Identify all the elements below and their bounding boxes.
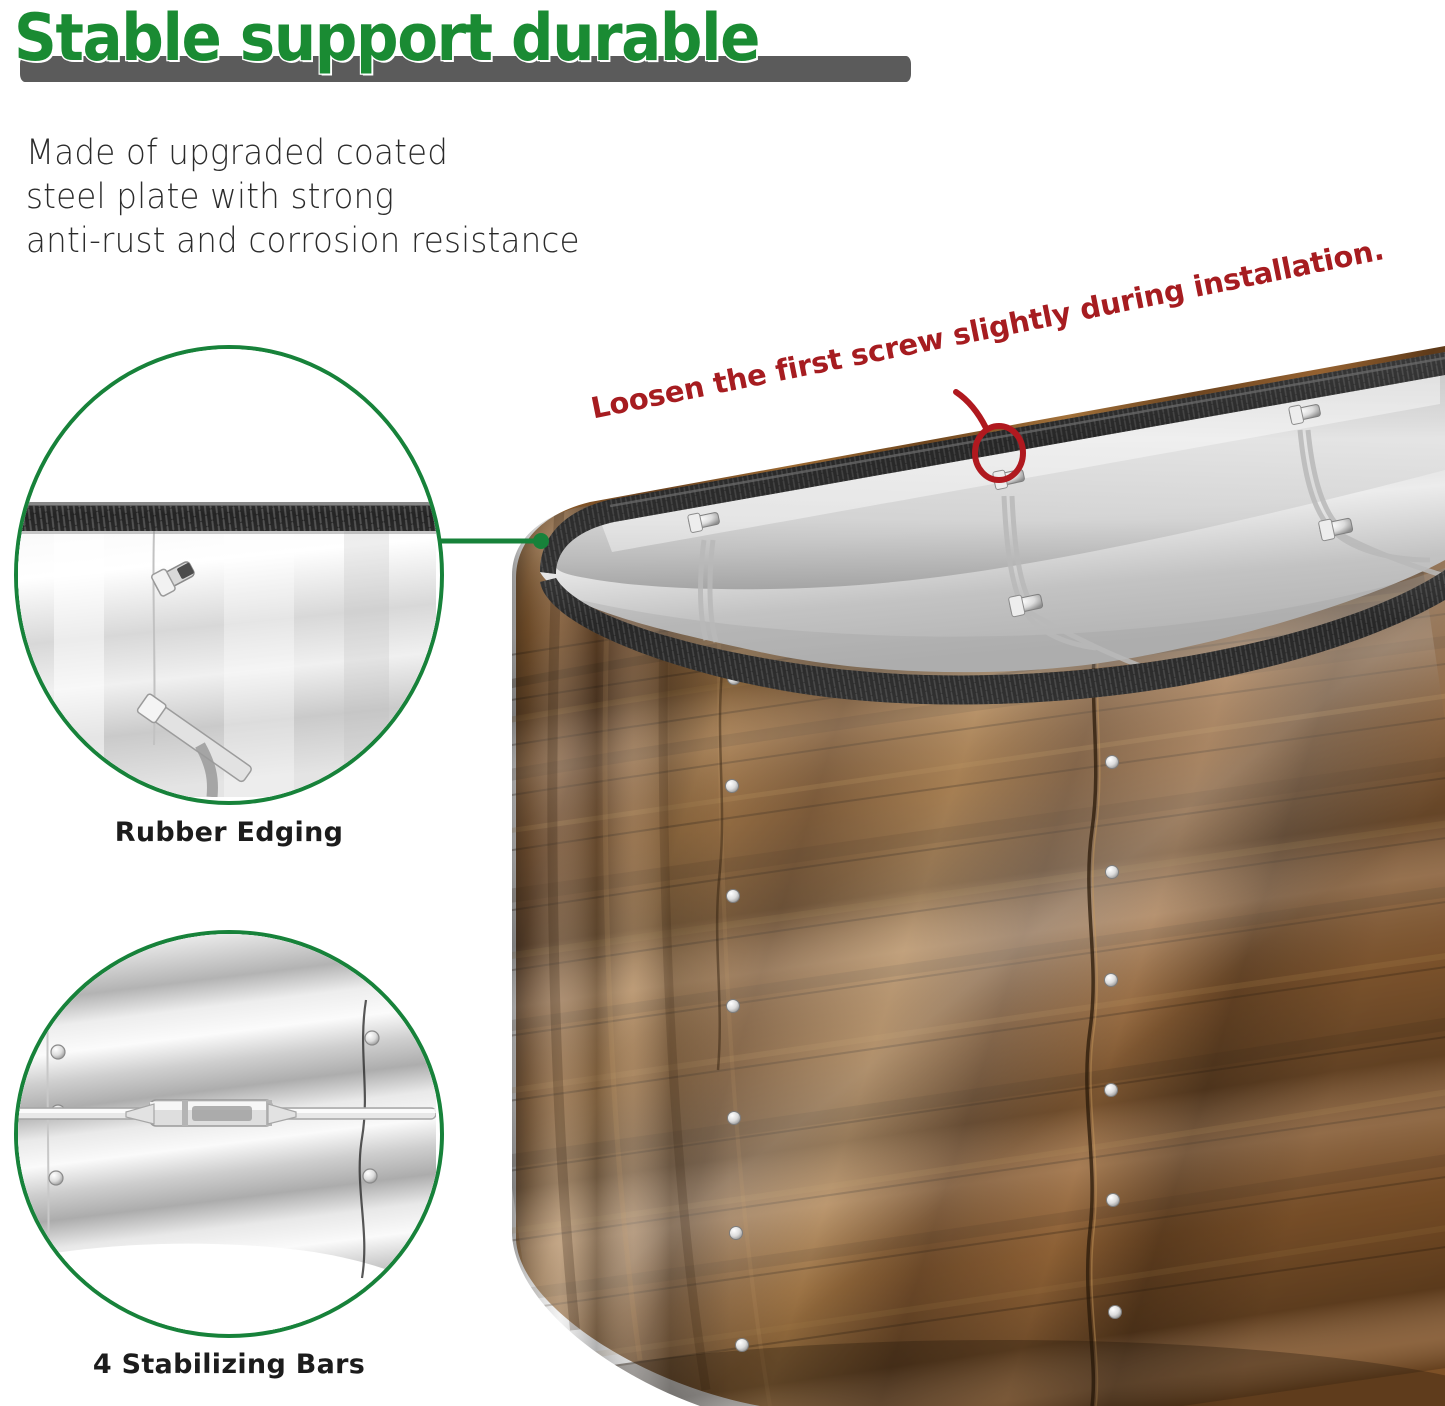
title-group: Stable support durable [14,4,914,84]
callout-stabilizing-bars: 4 Stabilizing Bars [14,930,444,1406]
screw-row-left [726,672,749,1352]
header: Stable support durable Made of upgraded … [0,0,1445,275]
page-title: Stable support durable [14,4,759,74]
red-highlight-circle [956,392,1023,480]
subtitle-text: Made of upgraded coated steel plate with… [26,131,807,263]
stabilizing-bars [701,430,1445,676]
screw-row-right [1105,644,1122,1319]
rubber-edging-detail-photo [14,345,436,797]
green-leader-line [436,533,549,549]
interior-bolts [687,401,1353,617]
callout-label-rubber-edging: Rubber Edging [14,817,444,848]
callout-rubber-edging: Rubber Edging [14,345,444,865]
bed-exterior-wall [414,346,1445,1406]
callout-label-stabilizing-bars: 4 Stabilizing Bars [14,1349,444,1380]
callout-ring-rubber-edging [14,345,444,805]
stabilizing-bars-detail-photo [14,930,436,1330]
callout-ring-stabilizing-bars [14,930,444,1338]
